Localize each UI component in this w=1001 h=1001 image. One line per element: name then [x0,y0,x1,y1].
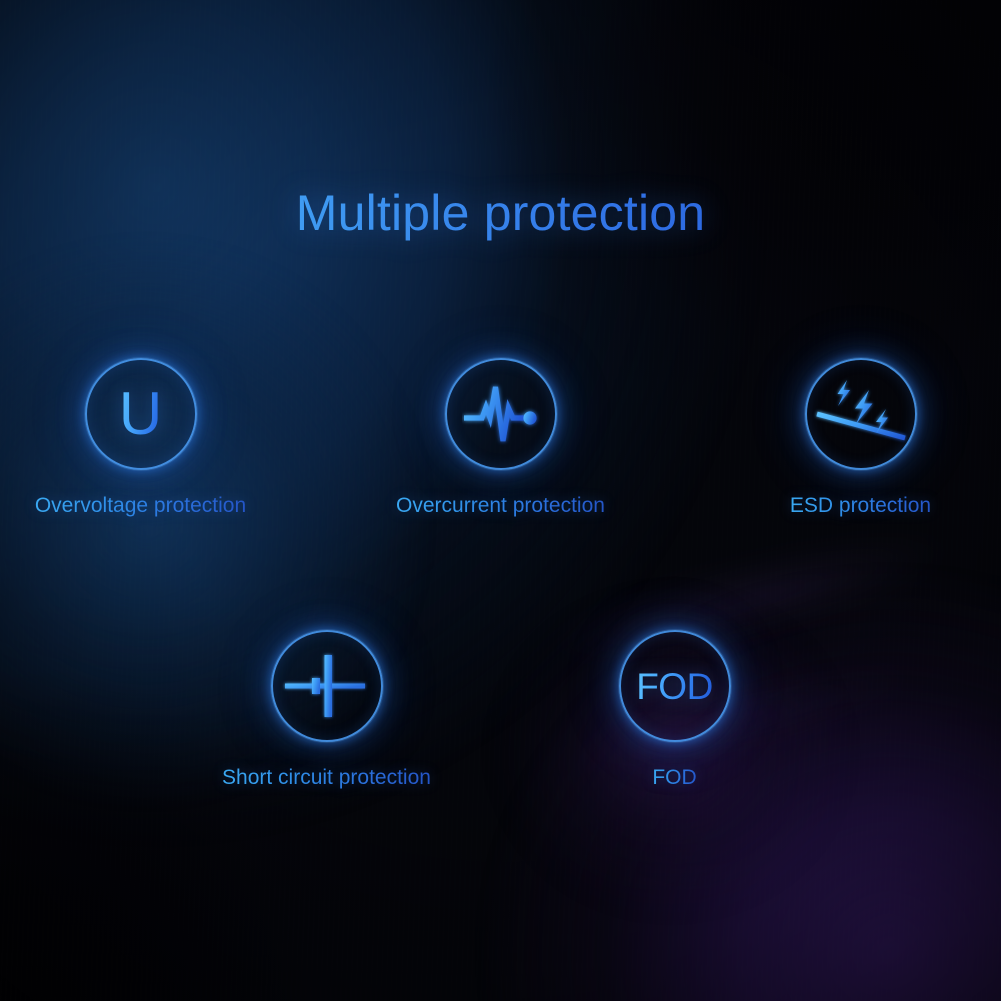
icon-ring-short-circuit [271,630,383,742]
icon-ring-overvoltage: U [85,358,197,470]
letter-u-icon: U [119,384,162,444]
icon-ring-overcurrent [445,358,557,470]
esd-lightning-ground-icon [809,362,913,466]
feature-caption-overcurrent: Overcurrent protection [396,494,605,517]
fod-text-icon: FOD [636,668,713,705]
feature-item-overvoltage: U Overvoltage protection [31,358,251,517]
feature-caption-esd: ESD protection [790,494,931,517]
feature-caption-fod: FOD [652,766,696,789]
page-title: Multiple protection [0,186,1001,241]
icon-ring-fod: FOD [619,630,731,742]
icon-ring-esd [805,358,917,470]
feature-row-top: U Overvoltage protection [0,358,1001,517]
capacitor-short-circuit-icon [275,634,379,738]
feature-item-overcurrent: Overcurrent protection [391,358,611,517]
promo-banner: Multiple protection U Overvoltage protec… [0,0,1001,1001]
feature-item-esd: ESD protection [751,358,971,517]
waveform-pulse-icon [462,379,540,449]
feature-caption-short-circuit: Short circuit protection [222,766,431,789]
feature-caption-overvoltage: Overvoltage protection [35,494,246,517]
feature-item-short-circuit: Short circuit protection [217,630,437,789]
feature-item-fod: FOD FOD [565,630,785,789]
feature-row-bottom: Short circuit protection FOD FOD [0,630,1001,789]
